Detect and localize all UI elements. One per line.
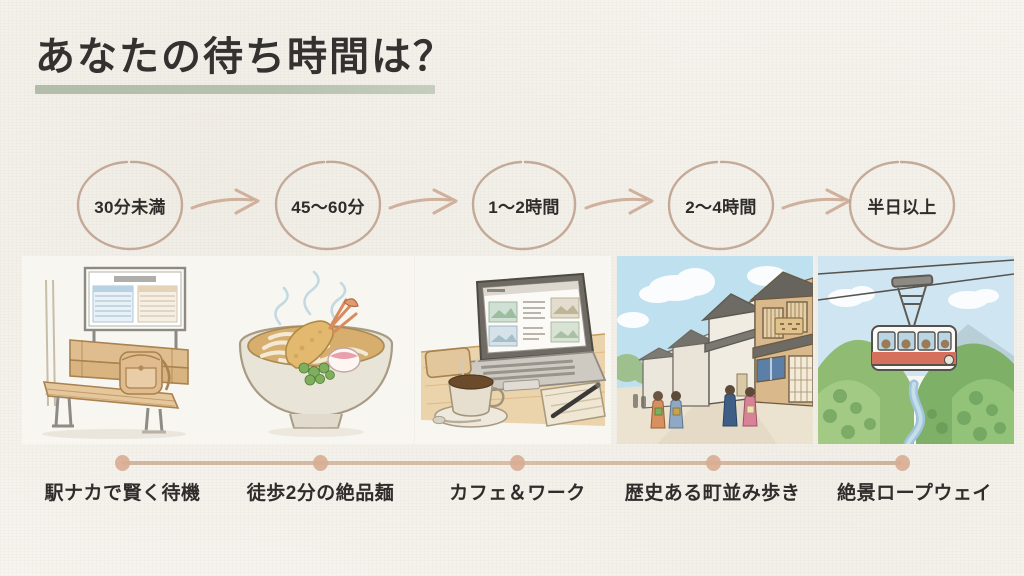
duration-bubble-3[interactable]: 1〜2時間 — [468, 158, 580, 252]
laptop-coffee-desk-illustration — [415, 256, 611, 444]
page-title-block: あなたの待ち時間は？ — [35, 34, 455, 94]
mountain-ropeway-illustration — [818, 256, 1014, 444]
duration-bubble-2[interactable]: 45〜60分 — [272, 158, 384, 252]
title-underline-accent — [35, 85, 435, 94]
caption-1: 駅ナカで賢く待機 — [20, 478, 225, 505]
duration-bubble-1[interactable]: 30分未満 — [74, 158, 186, 252]
caption-row: 駅ナカで賢く待機 徒歩2分の絶品麺 カフェ＆ワーク 歴史ある町並み歩き 絶景ロー… — [0, 478, 1024, 518]
duration-bubble-label-4: 2〜4時間 — [685, 193, 756, 218]
arrow-right-icon-3 — [584, 188, 662, 222]
caption-5: 絶景ロープウェイ — [812, 478, 1017, 505]
caption-3: カフェ＆ワーク — [415, 478, 620, 505]
slide-canvas: あなたの待ち時間は？ 30分未満 45〜60分 — [0, 0, 1024, 576]
timeline-dot-icon-2 — [313, 455, 328, 471]
station-bench-timetable-illustration — [22, 256, 218, 444]
duration-bubble-label-2: 45〜60分 — [291, 193, 365, 218]
timeline-axis — [0, 452, 1024, 474]
timeline-dot-icon-5 — [895, 455, 910, 471]
illustration-panel-row — [0, 256, 1024, 444]
duration-bubble-label-1: 30分未満 — [94, 193, 165, 218]
page-title: あなたの待ち時間は？ — [35, 34, 455, 80]
duration-bubble-label-3: 1〜2時間 — [488, 193, 559, 218]
caption-4: 歴史ある町並み歩き — [610, 478, 815, 505]
duration-bubble-5[interactable]: 半日以上 — [846, 158, 958, 252]
duration-bubble-row: 30分未満 45〜60分 1〜2時間 — [0, 158, 1024, 254]
duration-bubble-label-5: 半日以上 — [867, 193, 936, 218]
historic-townscape-illustration — [617, 256, 813, 444]
caption-2: 徒歩2分の絶品麺 — [218, 478, 423, 505]
arrow-right-icon-1 — [190, 188, 268, 222]
tempura-udon-bowl-illustration — [218, 256, 414, 444]
timeline-dot-icon-1 — [115, 455, 130, 471]
arrow-right-icon-2 — [388, 188, 466, 222]
timeline-dot-icon-3 — [510, 455, 525, 471]
timeline-dot-icon-4 — [706, 455, 721, 471]
duration-bubble-4[interactable]: 2〜4時間 — [665, 158, 777, 252]
